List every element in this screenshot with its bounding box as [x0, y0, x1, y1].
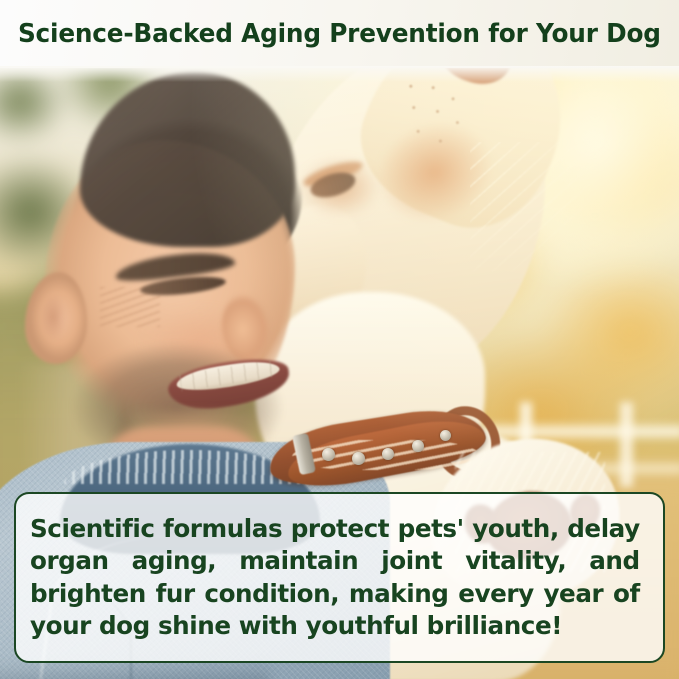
collar-stud: [352, 452, 365, 465]
collar-stud: [412, 440, 424, 452]
caption-box: Scientific formulas protect pets' youth,…: [14, 492, 665, 663]
collar-stud: [440, 430, 451, 441]
collar-stud: [322, 448, 335, 461]
fence-post-right-2: [620, 402, 633, 487]
collar-stud: [382, 448, 394, 460]
page-title: Science-Backed Aging Prevention for Your…: [18, 19, 661, 49]
dog-whiskers: [470, 142, 590, 272]
product-banner: Science-Backed Aging Prevention for Your…: [0, 0, 679, 679]
headline-bar: Science-Backed Aging Prevention for Your…: [0, 0, 679, 68]
caption-text: Scientific formulas protect pets' youth,…: [30, 513, 640, 643]
man-ear-inner: [40, 294, 66, 340]
denim-shadow: [0, 662, 270, 679]
